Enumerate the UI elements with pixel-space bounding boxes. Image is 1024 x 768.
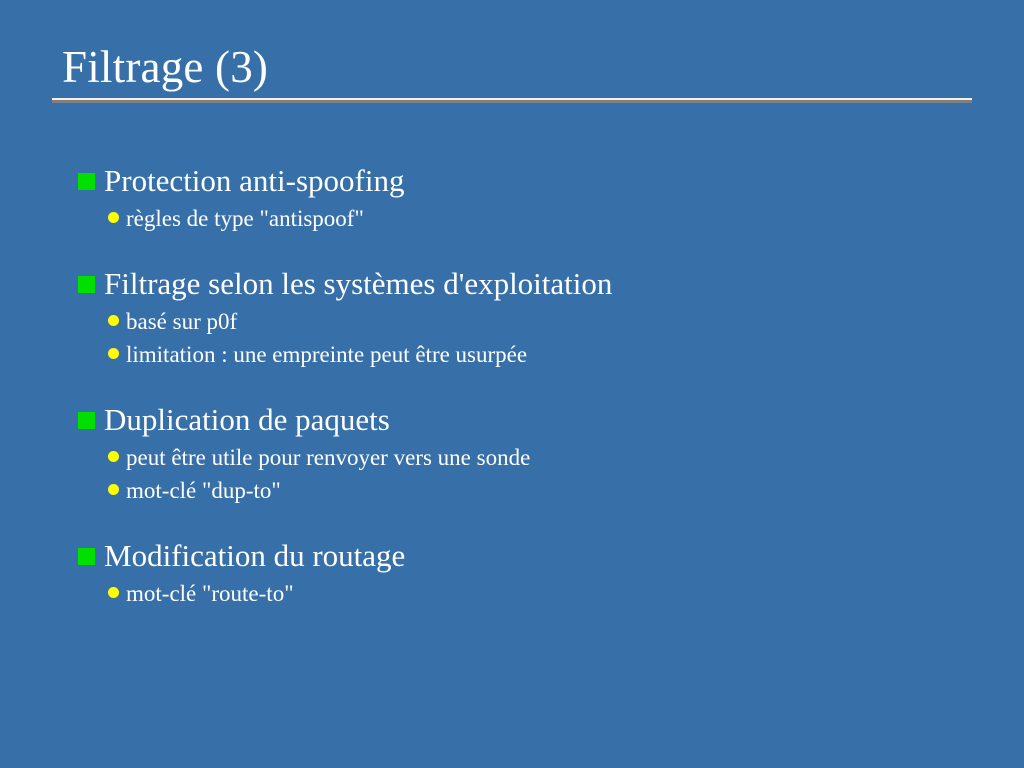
bullet-group: Modification du routage mot-clé "route-t…: [78, 537, 1008, 610]
title-divider: [52, 98, 972, 103]
list-item-level1-label: Protection anti-spoofing: [104, 162, 1008, 200]
list-item-level2: règles de type "antispoof": [108, 202, 1008, 235]
list-item-level2-label: limitation : une empreinte peut être usu…: [126, 338, 1008, 371]
list-item-level1: Filtrage selon les systèmes d'exploitati…: [78, 265, 1008, 303]
presentation-slide: Filtrage (3) Protection anti-spoofing rè…: [0, 0, 1024, 768]
square-bullet-icon: [78, 276, 95, 293]
divider-shadow-line: [52, 100, 972, 103]
dot-bullet-icon: [108, 587, 119, 598]
list-item-level1-label: Duplication de paquets: [104, 401, 1008, 439]
list-item-level2: mot-clé "route-to": [108, 577, 1008, 610]
list-item-level1-label: Filtrage selon les systèmes d'exploitati…: [104, 265, 1008, 303]
sub-bullet-list: basé sur p0f limitation : une empreinte …: [78, 305, 1008, 371]
title-block: Filtrage (3): [52, 44, 972, 103]
sub-bullet-list: peut être utile pour renvoyer vers une s…: [78, 441, 1008, 507]
dot-bullet-icon: [108, 315, 119, 326]
bullet-group: Filtrage selon les systèmes d'exploitati…: [78, 265, 1008, 371]
dot-bullet-icon: [108, 212, 119, 223]
dot-bullet-icon: [108, 451, 119, 462]
list-item-level2: mot-clé "dup-to": [108, 474, 1008, 507]
list-item-level1: Duplication de paquets: [78, 401, 1008, 439]
bullet-group: Protection anti-spoofing règles de type …: [78, 162, 1008, 235]
square-bullet-icon: [78, 548, 95, 565]
list-item-level2-label: peut être utile pour renvoyer vers une s…: [126, 441, 1008, 474]
list-item-level2-label: basé sur p0f: [126, 305, 1008, 338]
list-item-level1-label: Modification du routage: [104, 537, 1008, 575]
list-item-level1: Protection anti-spoofing: [78, 162, 1008, 200]
list-item-level2: limitation : une empreinte peut être usu…: [108, 338, 1008, 371]
bullet-list: Protection anti-spoofing règles de type …: [78, 162, 1008, 610]
page-title: Filtrage (3): [52, 44, 972, 92]
bullet-group: Duplication de paquets peut être utile p…: [78, 401, 1008, 507]
dot-bullet-icon: [108, 484, 119, 495]
sub-bullet-list: mot-clé "route-to": [78, 577, 1008, 610]
sub-bullet-list: règles de type "antispoof": [78, 202, 1008, 235]
dot-bullet-icon: [108, 348, 119, 359]
list-item-level2-label: mot-clé "route-to": [126, 577, 1008, 610]
list-item-level1: Modification du routage: [78, 537, 1008, 575]
list-item-level2: basé sur p0f: [108, 305, 1008, 338]
list-item-level2: peut être utile pour renvoyer vers une s…: [108, 441, 1008, 474]
square-bullet-icon: [78, 173, 95, 190]
list-item-level2-label: mot-clé "dup-to": [126, 474, 1008, 507]
list-item-level2-label: règles de type "antispoof": [126, 202, 1008, 235]
square-bullet-icon: [78, 412, 95, 429]
